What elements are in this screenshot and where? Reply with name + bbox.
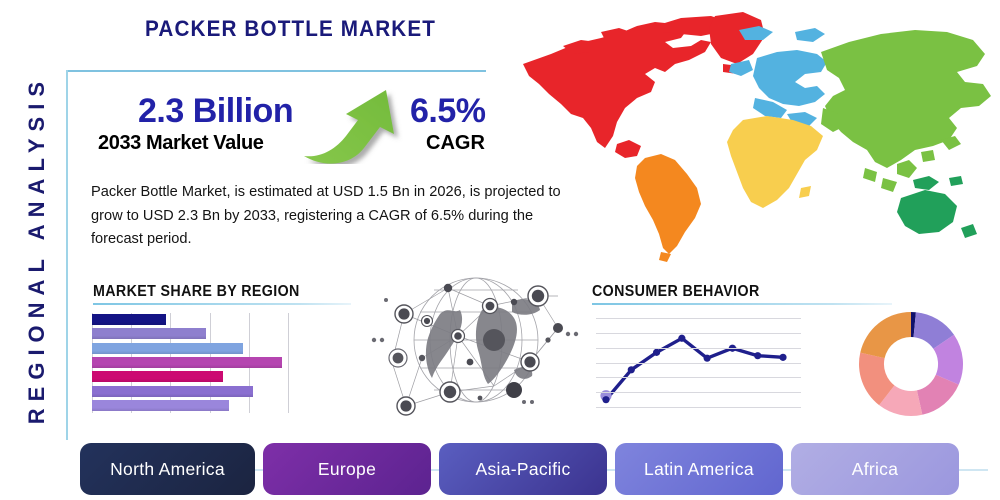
market-share-heading: MARKET SHARE BY REGION (93, 283, 300, 301)
region-button-label: North America (110, 459, 225, 480)
consumer-behavior-heading: CONSUMER BEHAVIOR (592, 283, 760, 301)
bar-fill (92, 328, 206, 339)
consumer-behavior-line-chart (596, 310, 801, 415)
bar-row (92, 314, 166, 325)
bar-fill (92, 314, 166, 325)
bar-row (92, 386, 253, 397)
page-title: PACKER BOTTLE MARKET (145, 16, 436, 42)
market-share-bar-chart (92, 313, 288, 413)
bar-fill (92, 343, 243, 354)
region-button-label: Asia-Pacific (475, 459, 570, 480)
line-gridline (596, 318, 801, 319)
kpi-row: 2.3 Billion 2033 Market Value 6.5% CAGR (90, 92, 510, 168)
region-button-north-america[interactable]: North America (80, 443, 255, 495)
cagr-figure: 6.5% (410, 92, 486, 131)
regional-analysis-side-label: REGIONAL ANALYSIS (14, 50, 60, 450)
region-button-label: Africa (852, 459, 899, 480)
global-network-globe-icon (362, 266, 590, 418)
line-gridline (596, 333, 801, 334)
bar-row (92, 371, 223, 382)
line-gridline (596, 392, 801, 393)
market-share-heading-rule (93, 303, 351, 305)
line-gridline (596, 348, 801, 349)
growth-arrow-icon (302, 84, 410, 164)
segment-donut-chart (855, 308, 967, 420)
market-value-figure: 2.3 Billion (138, 92, 293, 131)
region-button-europe[interactable]: Europe (263, 443, 431, 495)
side-label-text: REGIONAL ANALYSIS (24, 75, 50, 424)
bar-fill (92, 357, 282, 368)
bar-row (92, 357, 282, 368)
bar-fill (92, 386, 253, 397)
market-value-label: 2033 Market Value (98, 132, 264, 155)
region-button-label: Latin America (644, 459, 754, 480)
region-button-asia-pacific[interactable]: Asia-Pacific (439, 443, 607, 495)
bar-gridline (288, 313, 289, 413)
bar-row (92, 400, 229, 411)
region-button-bar: North AmericaEuropeAsia-PacificLatin Ame… (80, 443, 988, 495)
card-top-rule (66, 70, 486, 72)
bar-fill (92, 371, 223, 382)
line-gridline (596, 407, 801, 408)
region-button-latin-america[interactable]: Latin America (615, 443, 783, 495)
bar-row (92, 328, 206, 339)
card-left-rule (66, 70, 68, 440)
region-button-label: Europe (318, 459, 376, 480)
consumer-behavior-heading-rule (592, 303, 892, 305)
world-map-icon (505, 2, 1000, 264)
region-button-africa[interactable]: Africa (791, 443, 959, 495)
line-gridline (596, 363, 801, 364)
bar-fill (92, 400, 229, 411)
line-gridline (596, 377, 801, 378)
donut-segment (860, 312, 911, 358)
cagr-label: CAGR (426, 132, 485, 155)
line-chart-gridlines (596, 310, 801, 415)
bar-row (92, 343, 243, 354)
